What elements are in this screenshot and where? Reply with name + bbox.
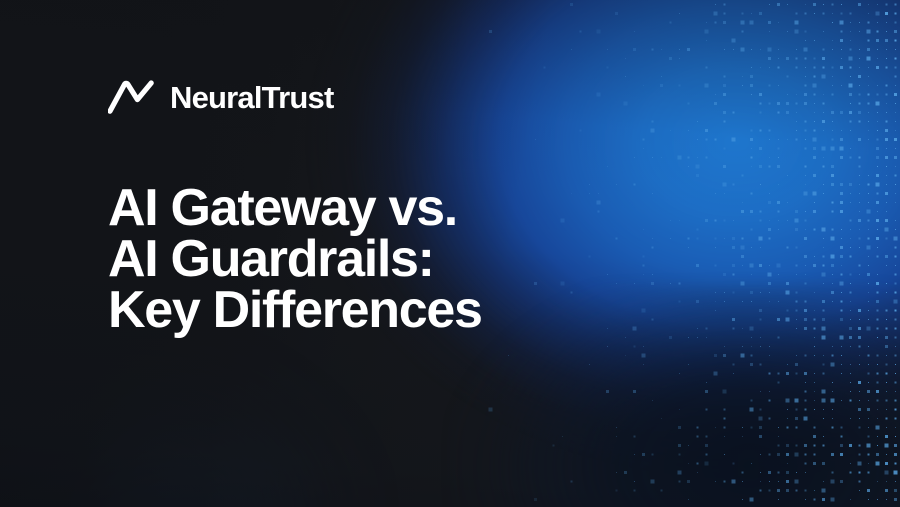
neuraltrust-zigzag-mark-icon bbox=[108, 80, 156, 114]
headline: AI Gateway vs. AI Guardrails: Key Differ… bbox=[108, 183, 900, 336]
banner-content: NeuralTrust AI Gateway vs. AI Guardrails… bbox=[0, 0, 900, 507]
brand-logo[interactable]: NeuralTrust bbox=[108, 77, 900, 117]
headline-line-1: AI Gateway vs. bbox=[108, 183, 900, 234]
headline-line-2: AI Guardrails: bbox=[108, 234, 900, 285]
headline-line-3: Key Differences bbox=[108, 285, 900, 336]
promo-banner: NeuralTrust AI Gateway vs. AI Guardrails… bbox=[0, 0, 900, 507]
brand-name: NeuralTrust bbox=[170, 82, 333, 113]
